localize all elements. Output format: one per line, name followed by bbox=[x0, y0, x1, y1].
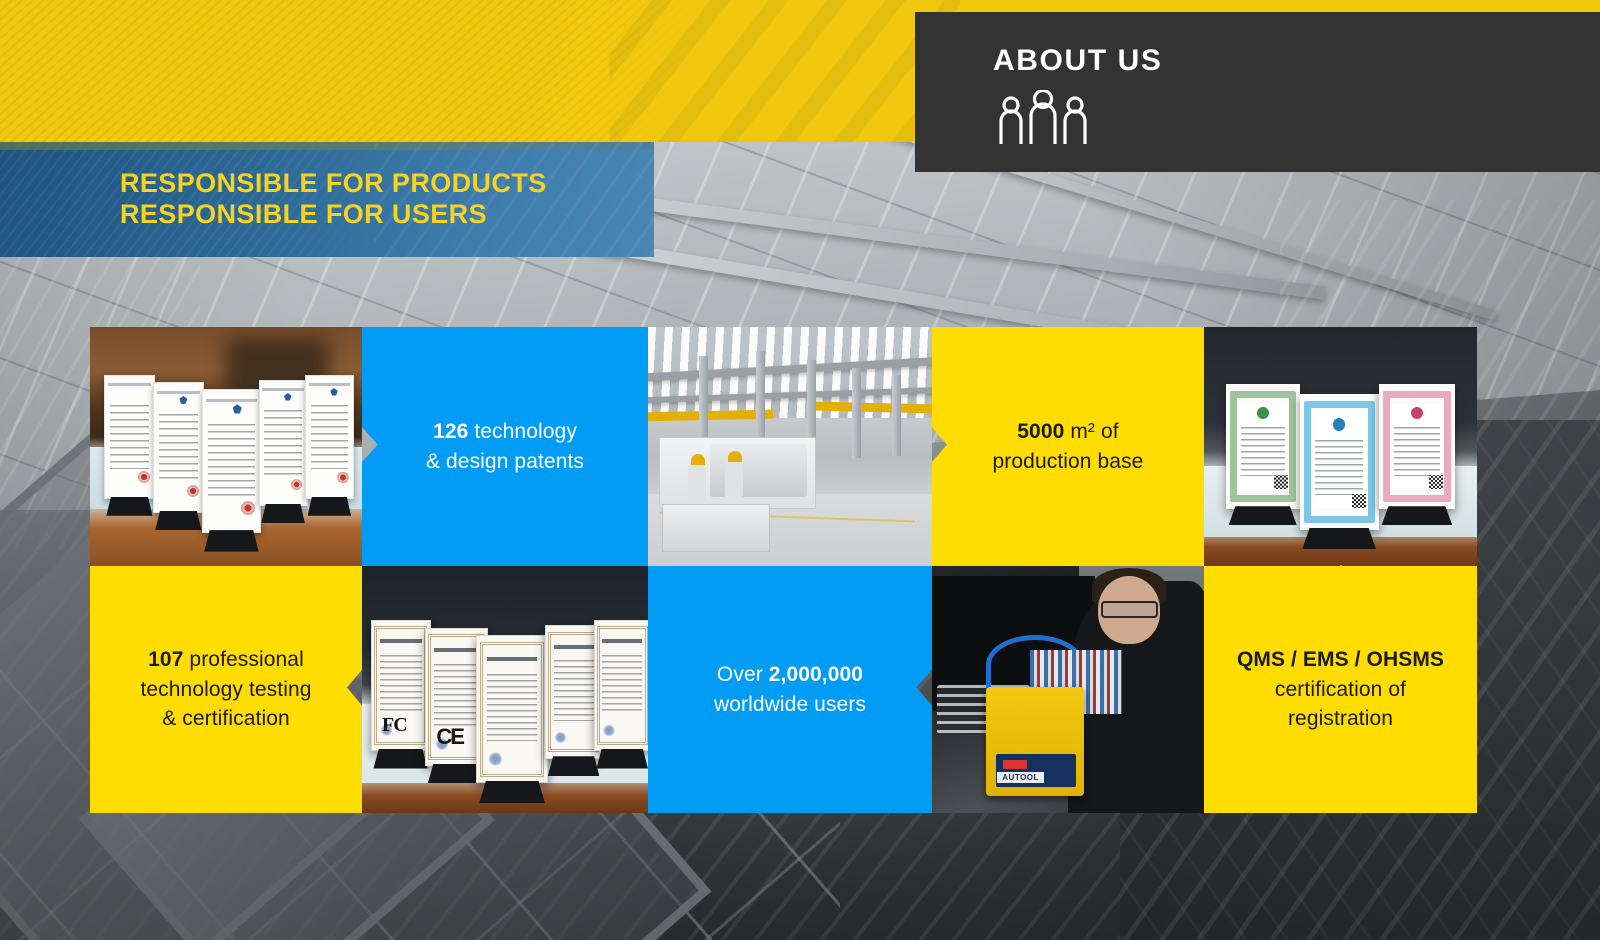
headline-banner: RESPONSIBLE FOR PRODUCTS RESPONSIBLE FOR… bbox=[0, 142, 654, 257]
patents-certificates-photo bbox=[90, 327, 362, 566]
stat-value-patents: 126 bbox=[433, 420, 468, 443]
mechanic-diagnostic-photo: AUTOOL bbox=[932, 566, 1204, 813]
stat-label-patents-1: technology bbox=[468, 420, 577, 443]
top-yellow-banner bbox=[0, 0, 960, 142]
stat-tile-testing-certification: 107 professional technology testing & ce… bbox=[90, 566, 362, 813]
compliance-certificates-photo: FC CE bbox=[362, 566, 648, 813]
stat-label-testing-2: technology testing bbox=[140, 678, 311, 701]
stat-label-production-1: m² of bbox=[1064, 420, 1118, 443]
headline-line-1: RESPONSIBLE FOR PRODUCTS bbox=[120, 168, 654, 199]
stat-label-qms-2: registration bbox=[1288, 707, 1393, 730]
stat-label-users: worldwide users bbox=[714, 693, 866, 716]
stat-tile-qms-ems-ohsms: QMS / EMS / OHSMS certification of regis… bbox=[1204, 566, 1477, 813]
page-title: ABOUT US bbox=[993, 46, 1600, 76]
stat-value-users: 2,000,000 bbox=[769, 663, 863, 686]
stat-tile-worldwide-users: Over 2,000,000 worldwide users bbox=[648, 566, 932, 813]
about-us-header-box: ABOUT US bbox=[915, 12, 1600, 172]
iso-certificates-photo bbox=[1204, 327, 1477, 566]
stat-value-testing: 107 bbox=[148, 648, 183, 671]
headline-line-2: RESPONSIBLE FOR USERS bbox=[120, 199, 654, 230]
stat-label-qms-1: certification of bbox=[1275, 678, 1406, 701]
headline-text: RESPONSIBLE FOR PRODUCTS RESPONSIBLE FOR… bbox=[120, 168, 654, 229]
stat-label-patents-2: & design patents bbox=[426, 450, 584, 473]
stat-tile-production-base: 5000 m² of production base bbox=[932, 327, 1204, 566]
yellow-banner-stair-texture bbox=[610, 0, 960, 142]
stat-label-testing-3: & certification bbox=[162, 707, 290, 730]
stat-prefix-users: Over bbox=[717, 663, 769, 686]
stat-label-testing-1: professional bbox=[183, 648, 303, 671]
stat-value-qms: QMS / EMS / OHSMS bbox=[1237, 648, 1444, 671]
tile-notch-up bbox=[1321, 565, 1361, 582]
stat-tile-patents: 126 technology & design patents bbox=[362, 327, 648, 566]
stat-label-production-2: production base bbox=[993, 450, 1144, 473]
stat-value-production-base: 5000 bbox=[1017, 420, 1064, 443]
people-group-icon bbox=[993, 90, 1093, 146]
stats-photo-grid: 126 technology & design patents bbox=[90, 327, 1477, 813]
factory-interior-photo bbox=[648, 327, 932, 566]
